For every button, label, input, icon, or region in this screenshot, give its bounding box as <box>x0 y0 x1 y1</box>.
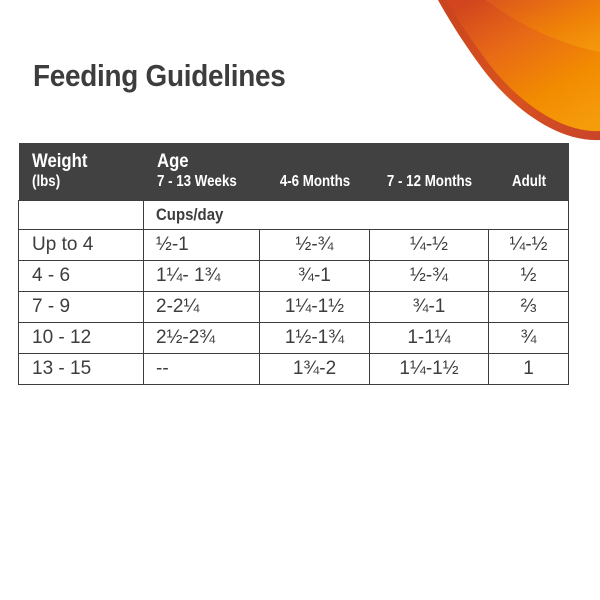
table-row: 13 - 15 -- 1¾-2 1¼-1½ 1 <box>19 354 569 385</box>
units-cell-weight <box>19 201 144 230</box>
cell-age-weeks: ½-1 <box>144 230 260 261</box>
feeding-guidelines-table: Weight (lbs) Age 7 - 13 Weeks 4-6 Months… <box>18 143 569 385</box>
header-cell-age-weeks: Age 7 - 13 Weeks <box>144 143 260 201</box>
cell-age-weeks: 1¼- 1¾ <box>144 261 260 292</box>
header-cell-weight: Weight (lbs) <box>19 143 144 201</box>
header-cell-age-adult: Adult <box>489 143 569 201</box>
orange-swoosh-decoration <box>410 0 600 155</box>
swoosh-highlight-layer <box>485 0 600 52</box>
cell-age-adult: ⅔ <box>489 292 569 323</box>
swoosh-shadow-layer <box>438 0 600 140</box>
cell-age-weeks: 2½-2¾ <box>144 323 260 354</box>
cell-weight: 4 - 6 <box>19 261 144 292</box>
table-row: Up to 4 ½-1 ½-¾ ¼-½ ¼-½ <box>19 230 569 261</box>
cell-age-7-12-months: 1-1¼ <box>370 323 489 354</box>
header-age-col-1: 4-6 Months <box>267 173 362 191</box>
cell-age-adult: ½ <box>489 261 569 292</box>
cell-age-weeks: 2-2¼ <box>144 292 260 323</box>
header-cell-age-7-12-months: 7 - 12 Months <box>370 143 489 201</box>
feeding-guidelines-page: Feeding Guidelines Weight (lbs) Age 7 - … <box>0 0 600 600</box>
cell-age-4-6-months: ¾-1 <box>260 261 370 292</box>
cell-age-7-12-months: 1¼-1½ <box>370 354 489 385</box>
cell-weight: 10 - 12 <box>19 323 144 354</box>
header-weight-main: Weight <box>32 151 131 173</box>
cell-age-4-6-months: 1½-1¾ <box>260 323 370 354</box>
header-spacer <box>260 151 370 173</box>
table-row: 10 - 12 2½-2¾ 1½-1¾ 1-1¼ ¾ <box>19 323 569 354</box>
cell-age-adult: ¼-½ <box>489 230 569 261</box>
header-weight-sub: (lbs) <box>32 173 128 191</box>
header-spacer <box>489 151 569 173</box>
cell-age-adult: 1 <box>489 354 569 385</box>
table-row: 7 - 9 2-2¼ 1¼-1½ ¾-1 ⅔ <box>19 292 569 323</box>
table-row: 4 - 6 1¼- 1¾ ¾-1 ½-¾ ½ <box>19 261 569 292</box>
units-label: Cups/day <box>156 205 223 225</box>
header-age-col-3: Adult <box>494 173 563 191</box>
header-age-main: Age <box>157 151 248 173</box>
table-header-row: Weight (lbs) Age 7 - 13 Weeks 4-6 Months… <box>19 143 569 201</box>
cell-age-7-12-months: ¾-1 <box>370 292 489 323</box>
header-spacer <box>370 151 489 173</box>
header-age-col-2: 7 - 12 Months <box>378 173 480 191</box>
cell-age-7-12-months: ½-¾ <box>370 261 489 292</box>
cell-age-7-12-months: ¼-½ <box>370 230 489 261</box>
cell-age-4-6-months: 1¼-1½ <box>260 292 370 323</box>
cell-age-4-6-months: ½-¾ <box>260 230 370 261</box>
cell-age-4-6-months: 1¾-2 <box>260 354 370 385</box>
swoosh-main-layer <box>446 0 600 131</box>
cell-weight: 13 - 15 <box>19 354 144 385</box>
table-units-row: Cups/day <box>19 201 569 230</box>
cell-age-adult: ¾ <box>489 323 569 354</box>
header-cell-age-4-6-months: 4-6 Months <box>260 143 370 201</box>
cell-weight: Up to 4 <box>19 230 144 261</box>
header-age-col-0: 7 - 13 Weeks <box>157 173 246 191</box>
cell-age-weeks: -- <box>144 354 260 385</box>
units-cell-cups-per-day: Cups/day <box>144 201 569 230</box>
page-title: Feeding Guidelines <box>33 58 285 94</box>
cell-weight: 7 - 9 <box>19 292 144 323</box>
